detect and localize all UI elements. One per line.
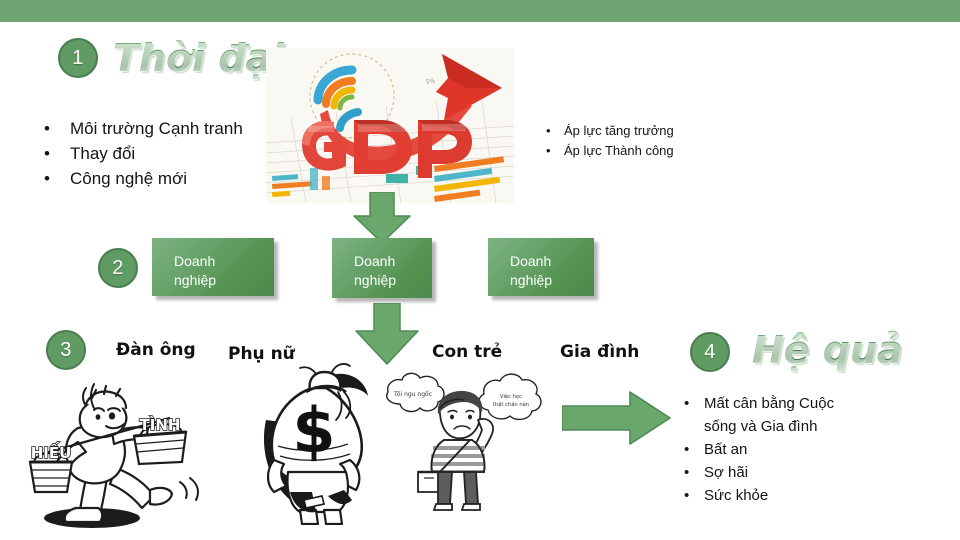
section-number-2: 2 xyxy=(98,248,138,288)
thought-bubble-right-text: Việc học xyxy=(500,393,522,400)
thought-bubble-left-text: Tôi ngu ngốc xyxy=(393,391,432,398)
illustration-child-stressed: Tôi ngu ngốc Việc học thật chán nản xyxy=(378,368,548,518)
list-item: Sức khỏe xyxy=(676,484,834,507)
svg-text:thật chán nản: thật chán nản xyxy=(493,401,529,408)
list-item: Áp lực Thành công xyxy=(540,141,674,161)
section-number-3: 3 xyxy=(46,330,86,370)
era-title: Thời đại xyxy=(113,36,284,80)
list-item: Bất an xyxy=(676,438,834,461)
slide-canvas: 1 Thời đại Thời đại Môi trường Cạnh tran… xyxy=(0,0,960,540)
list-item: Áp lực tăng trưởng xyxy=(540,121,674,141)
gdp-chart-image: 5% xyxy=(266,48,514,203)
section-number-3-label: 3 xyxy=(60,339,72,362)
basket-label-left: HIẾU xyxy=(31,441,72,462)
consequence-bullet-list: Mất cân bằng Cuộc sống và Gia đình Bất a… xyxy=(676,392,834,507)
pressure-bullet-list: Áp lực tăng trưởng Áp lực Thành công xyxy=(540,121,674,161)
section-number-1-label: 1 xyxy=(72,47,84,70)
business-box-1[interactable]: Doanh nghiệp xyxy=(152,238,274,296)
consequence-title: Hệ quả xyxy=(752,328,903,372)
business-box-3[interactable]: Doanh nghiệp xyxy=(488,238,594,296)
group-label-family: Gia đình xyxy=(560,342,639,362)
dollar-sign: $ xyxy=(292,394,335,467)
business-box-2[interactable]: Doanh nghiệp xyxy=(332,238,432,298)
list-item: Môi trường Cạnh tranh xyxy=(36,116,243,141)
basket-label-right: TÌNH xyxy=(140,415,181,434)
group-label-men: Đàn ông xyxy=(116,340,196,360)
section-number-2-label: 2 xyxy=(112,257,124,280)
list-item: Mất cân bằng Cuộc sống và Gia đình xyxy=(676,392,834,438)
era-bullet-list: Môi trường Cạnh tranh Thay đổi Công nghệ… xyxy=(36,116,243,191)
section-number-4-label: 4 xyxy=(704,341,716,364)
illustration-man-with-baskets: HIẾU TÌNH xyxy=(20,370,250,535)
section-number-1: 1 xyxy=(58,38,98,78)
section-number-4: 4 xyxy=(690,332,730,372)
top-banner xyxy=(0,0,960,22)
illustration-woman-with-money-bag: $ xyxy=(252,360,382,530)
list-item: Sợ hãi xyxy=(676,461,834,484)
list-item: Thay đổi xyxy=(36,141,243,166)
group-label-children: Con trẻ xyxy=(432,342,502,362)
list-item: Công nghệ mới xyxy=(36,166,243,191)
right-arrow-to-consequence xyxy=(562,390,672,451)
